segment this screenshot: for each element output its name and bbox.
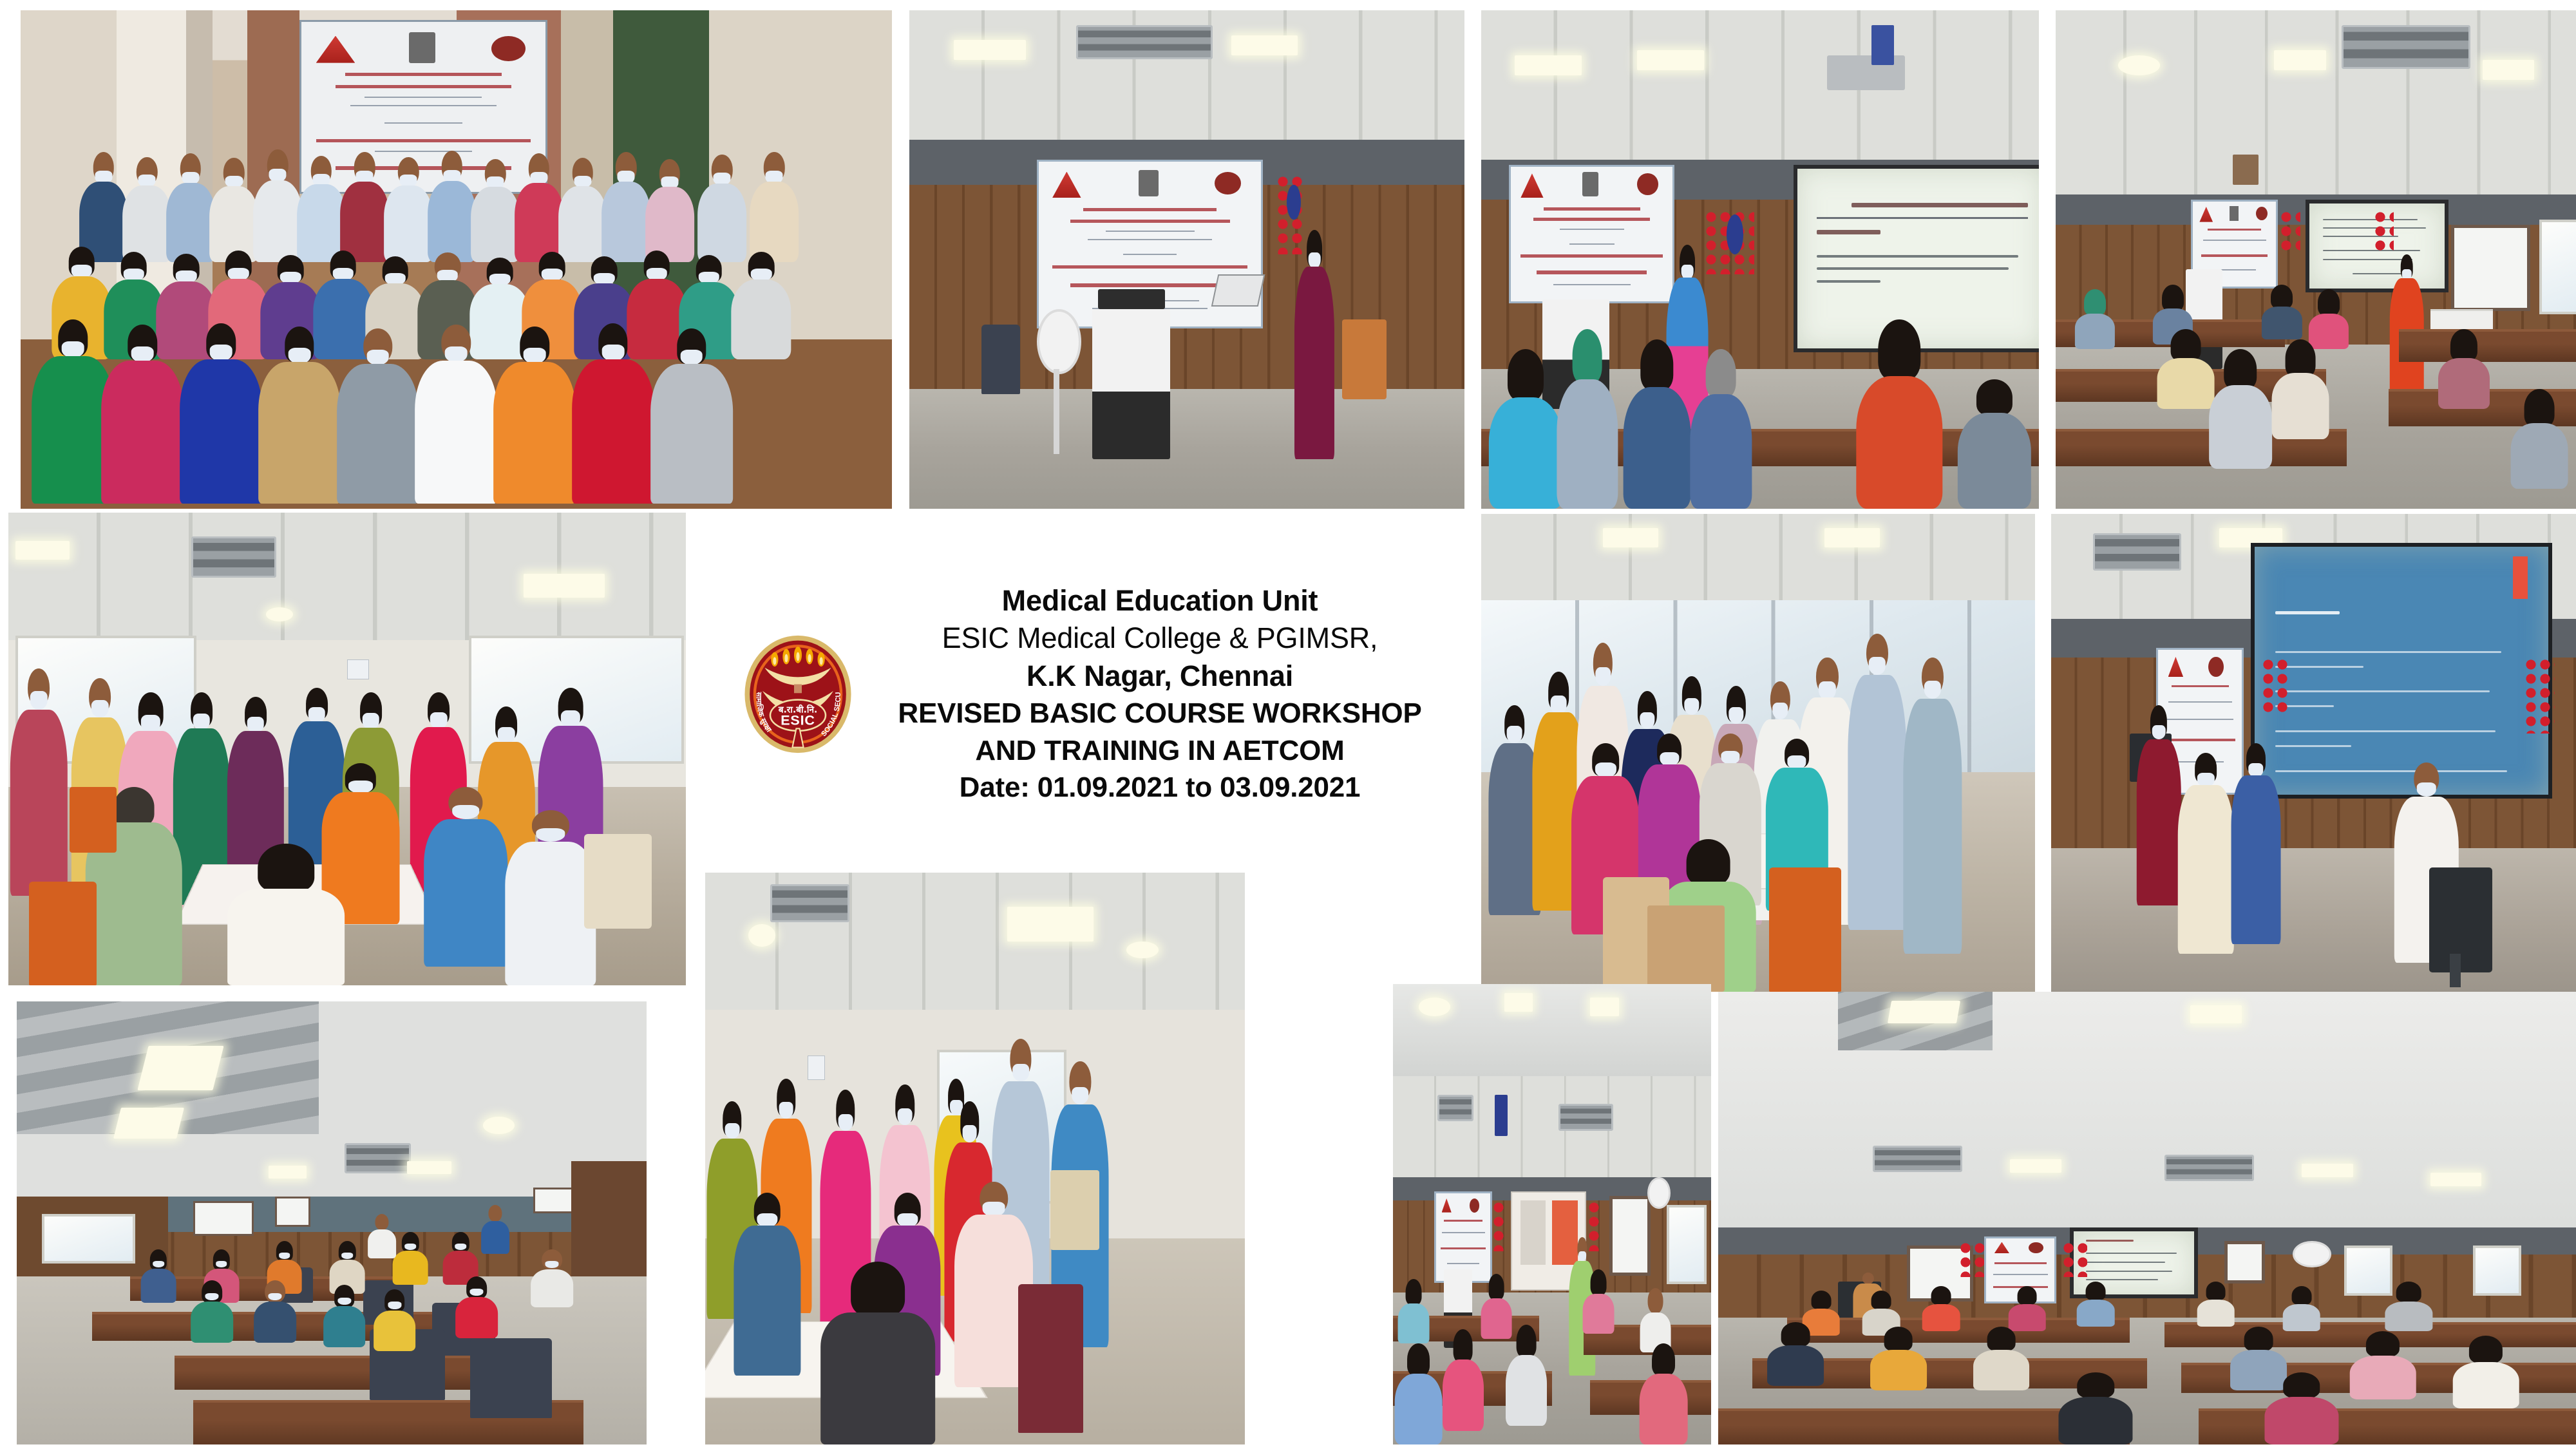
title-line-event-1: REVISED BASIC COURSE WORKSHOP (865, 695, 1455, 732)
title-line-date: Date: 01.09.2021 to 03.09.2021 (865, 769, 1455, 806)
title-line-event-2: AND TRAINING IN AETCOM (865, 732, 1455, 769)
projection-screen (2251, 543, 2552, 799)
lectern (1092, 309, 1170, 459)
svg-text:ESIC: ESIC (781, 712, 815, 728)
photo-poster-presentation (705, 873, 1245, 1444)
photo-cognitive-domain-lecture (1481, 10, 2039, 509)
esic-emblem-logo: ब.रा.बी.नि. ESIC SOCIAL SECURITY सामाजिक… (743, 633, 853, 755)
photo-group-activity-table (8, 513, 686, 985)
event-banner (1509, 165, 1674, 303)
photo-lecture-hall-wide (2056, 10, 2576, 509)
title-block: ब.रा.बी.नि. ESIC SOCIAL SECURITY सामाजिक… (705, 515, 1472, 873)
title-text-block: Medical Education Unit ESIC Medical Coll… (853, 582, 1472, 806)
title-line-location: K.K Nagar, Chennai (865, 658, 1455, 696)
photo-classroom-left (17, 1001, 647, 1444)
photo-podium-empty (909, 10, 1464, 509)
photo-group-activity-window (1481, 514, 2035, 992)
photo-classroom-rear (1718, 992, 2576, 1444)
title-line-institution: ESIC Medical College & PGIMSR, (865, 620, 1455, 658)
photo-classroom-front (1393, 984, 1711, 1444)
title-line-department: Medical Education Unit (865, 582, 1455, 620)
photo-group-portrait (21, 10, 892, 509)
photo-summary-session (2051, 514, 2576, 992)
